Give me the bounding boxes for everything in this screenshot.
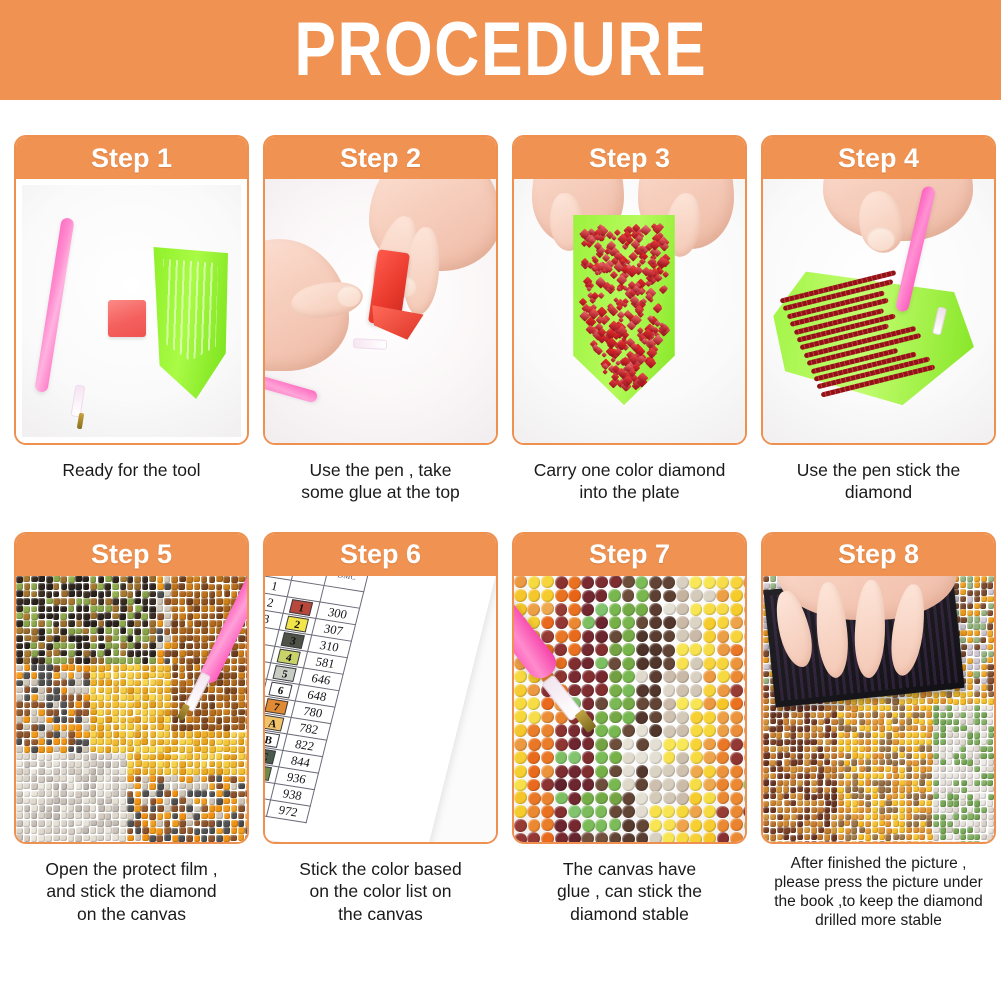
page-title: PROCEDURE bbox=[294, 12, 707, 88]
step-header-3: Step 3 bbox=[514, 137, 745, 179]
step-card-2[interactable]: Step 2 bbox=[263, 135, 498, 445]
step-image-1 bbox=[16, 179, 247, 443]
step-caption-1: Ready for the tool bbox=[14, 459, 249, 481]
fingernail-icon bbox=[337, 285, 361, 307]
step-cell-1: Step 1 Ready for the tool bbox=[14, 135, 249, 504]
step-caption-8: After finished the picture , please pres… bbox=[761, 854, 996, 931]
photo-pen-picking-diamond bbox=[763, 179, 994, 443]
step-image-8 bbox=[763, 576, 994, 842]
step-header-7: Step 7 bbox=[514, 534, 745, 576]
step-cell-6: Step 6 SymbolDMC121300323074331054581656… bbox=[263, 532, 498, 931]
step-card-8[interactable]: Step 8 bbox=[761, 532, 996, 844]
red-diamond-drills-icon bbox=[574, 223, 674, 393]
step-card-7[interactable]: Step 7 bbox=[512, 532, 747, 844]
step-cell-4: Step 4 Use the pen stick the diamo bbox=[761, 135, 996, 504]
step-header-label: Step 1 bbox=[91, 145, 172, 172]
step-image-3 bbox=[514, 179, 745, 443]
glue-clay-square-icon bbox=[108, 300, 146, 337]
step-cell-5: Step 5 Open the protect film , and stick… bbox=[14, 532, 249, 931]
step-caption-5: Open the protect film , and stick the di… bbox=[14, 858, 249, 925]
step-header-label: Step 5 bbox=[91, 541, 172, 568]
step-header-4: Step 4 bbox=[763, 137, 994, 179]
step-cell-3: Step 3 Carry one color diamond into the … bbox=[512, 135, 747, 504]
photo-color-chart: SymbolDMC1213003230743310545816564676648… bbox=[265, 576, 496, 842]
step-image-5 bbox=[16, 576, 247, 842]
step-card-3[interactable]: Step 3 bbox=[512, 135, 747, 445]
step-image-6: SymbolDMC1213003230743310545816564676648… bbox=[265, 576, 496, 842]
step-card-4[interactable]: Step 4 bbox=[761, 135, 996, 445]
step-image-7 bbox=[514, 576, 745, 842]
step-caption-7: The canvas have glue , can stick the dia… bbox=[512, 858, 747, 925]
step-header-label: Step 3 bbox=[589, 145, 670, 172]
step-header-label: Step 7 bbox=[589, 541, 670, 568]
photo-pressing-book-on-canvas bbox=[763, 576, 994, 842]
step-image-2 bbox=[265, 179, 496, 443]
round-drills-icon bbox=[514, 576, 745, 842]
steps-row-top: Step 1 Ready for the tool bbox=[14, 135, 987, 504]
photo-mosaic-canvas-with-pen bbox=[16, 576, 247, 842]
step-caption-3: Carry one color diamond into the plate bbox=[512, 459, 747, 504]
photo-tools-flatlay bbox=[22, 185, 241, 437]
steps-grid: Step 1 Ready for the tool bbox=[0, 135, 1001, 931]
step-header-label: Step 4 bbox=[838, 145, 919, 172]
pen-tip-icon bbox=[353, 338, 387, 350]
photo-pen-dipping-glue bbox=[265, 179, 496, 443]
step-card-6[interactable]: Step 6 SymbolDMC121300323074331054581656… bbox=[263, 532, 498, 844]
step-cell-7: Step 7 The canvas have glue , can stick … bbox=[512, 532, 747, 931]
mosaic-canvas-icon bbox=[16, 576, 247, 842]
step-header-label: Step 8 bbox=[838, 541, 919, 568]
step-card-5[interactable]: Step 5 bbox=[14, 532, 249, 844]
step-cell-2: Step 2 bbox=[263, 135, 498, 504]
green-tray-icon bbox=[152, 247, 228, 399]
page-header-banner: PROCEDURE bbox=[0, 0, 1001, 100]
photo-round-drills-closeup bbox=[514, 576, 745, 842]
step-caption-4: Use the pen stick the diamond bbox=[761, 459, 996, 504]
step-header-label: Step 6 bbox=[340, 541, 421, 568]
step-caption-2: Use the pen , take some glue at the top bbox=[263, 459, 498, 504]
step-card-1[interactable]: Step 1 bbox=[14, 135, 249, 445]
step-image-4 bbox=[763, 179, 994, 443]
step-header-6: Step 6 bbox=[265, 534, 496, 576]
step-header-2: Step 2 bbox=[265, 137, 496, 179]
photo-plate-with-diamonds bbox=[514, 179, 745, 443]
step-caption-6: Stick the color based on the color list … bbox=[263, 858, 498, 925]
step-cell-8: Step 8 After finished the picture , plea… bbox=[761, 532, 996, 931]
fingernail-icon bbox=[867, 227, 895, 251]
step-header-5: Step 5 bbox=[16, 534, 247, 576]
step-header-8: Step 8 bbox=[763, 534, 994, 576]
steps-row-bottom: Step 5 Open the protect film , and stick… bbox=[14, 532, 987, 931]
step-header-label: Step 2 bbox=[340, 145, 421, 172]
step-header-1: Step 1 bbox=[16, 137, 247, 179]
